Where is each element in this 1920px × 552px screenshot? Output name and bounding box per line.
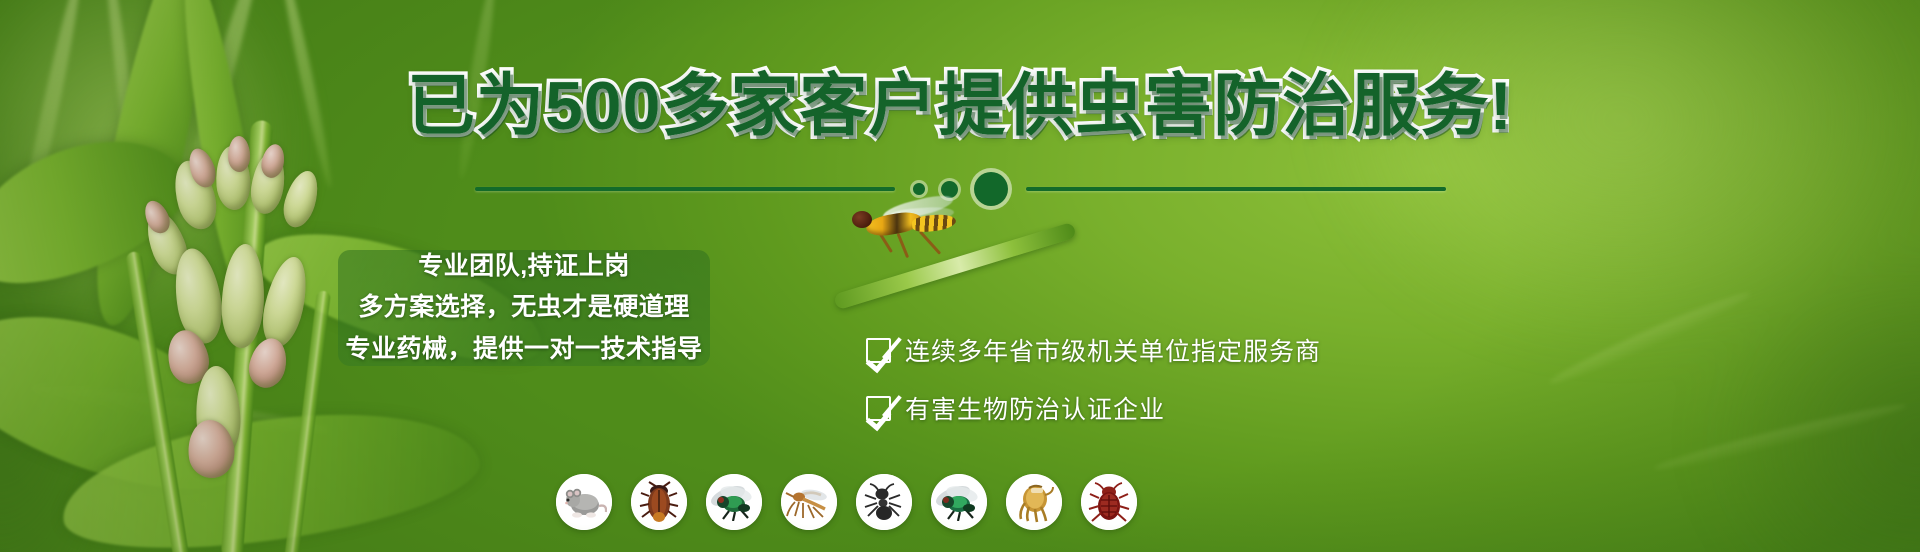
divider-line-right	[1026, 187, 1446, 191]
hoverfly-decoration	[840, 196, 1020, 276]
checkbox-checked-icon	[866, 396, 891, 421]
banner-headline-text: 已为500多家客户提供虫害防治服务!	[407, 72, 1513, 140]
selling-point-line-1: 专业团队,持证上岗	[418, 246, 629, 287]
blowfly-icon[interactable]: 绿头蝇	[931, 474, 987, 530]
hoverfly-head-icon	[852, 211, 872, 228]
promo-banner: 已为500多家客户提供虫害防治服务! 专业团队,持证上岗 多方案选择，无虫才是硬…	[0, 0, 1920, 552]
selling-point-line-3: 专业药械，提供一对一技术指导	[345, 329, 702, 370]
dot-small-icon	[913, 183, 925, 195]
checkbox-checked-icon	[866, 338, 891, 363]
checklist-item-label: 连续多年省市级机关单位指定服务商	[905, 332, 1321, 368]
checklist-item-label: 有害生物防治认证企业	[905, 390, 1165, 426]
certification-checklist: 连续多年省市级机关单位指定服务商 有害生物防治认证企业	[866, 332, 1321, 426]
mosquito-icon[interactable]: 蚊子	[781, 474, 837, 530]
bedbug-icon[interactable]: 臭虫	[1081, 474, 1137, 530]
banner-headline: 已为500多家客户提供虫害防治服务!	[0, 72, 1920, 140]
flea-icon[interactable]: 跳蚤	[1006, 474, 1062, 530]
checklist-item: 有害生物防治认证企业	[866, 390, 1321, 426]
ant-icon[interactable]: 蚂蚁	[856, 474, 912, 530]
divider-line-left	[475, 187, 895, 191]
fly-icon[interactable]: 苍蝇	[706, 474, 762, 530]
cockroach-icon[interactable]: 蟑螂	[631, 474, 687, 530]
mouse-icon[interactable]: 鼠	[556, 474, 612, 530]
checklist-item: 连续多年省市级机关单位指定服务商	[866, 332, 1321, 368]
pest-icon-row: 鼠 蟑螂	[556, 474, 1137, 530]
selling-points-text: 专业团队,持证上岗 多方案选择，无虫才是硬道理 专业药械，提供一对一技术指导	[338, 250, 710, 366]
selling-point-line-2: 多方案选择，无虫才是硬道理	[358, 287, 690, 328]
